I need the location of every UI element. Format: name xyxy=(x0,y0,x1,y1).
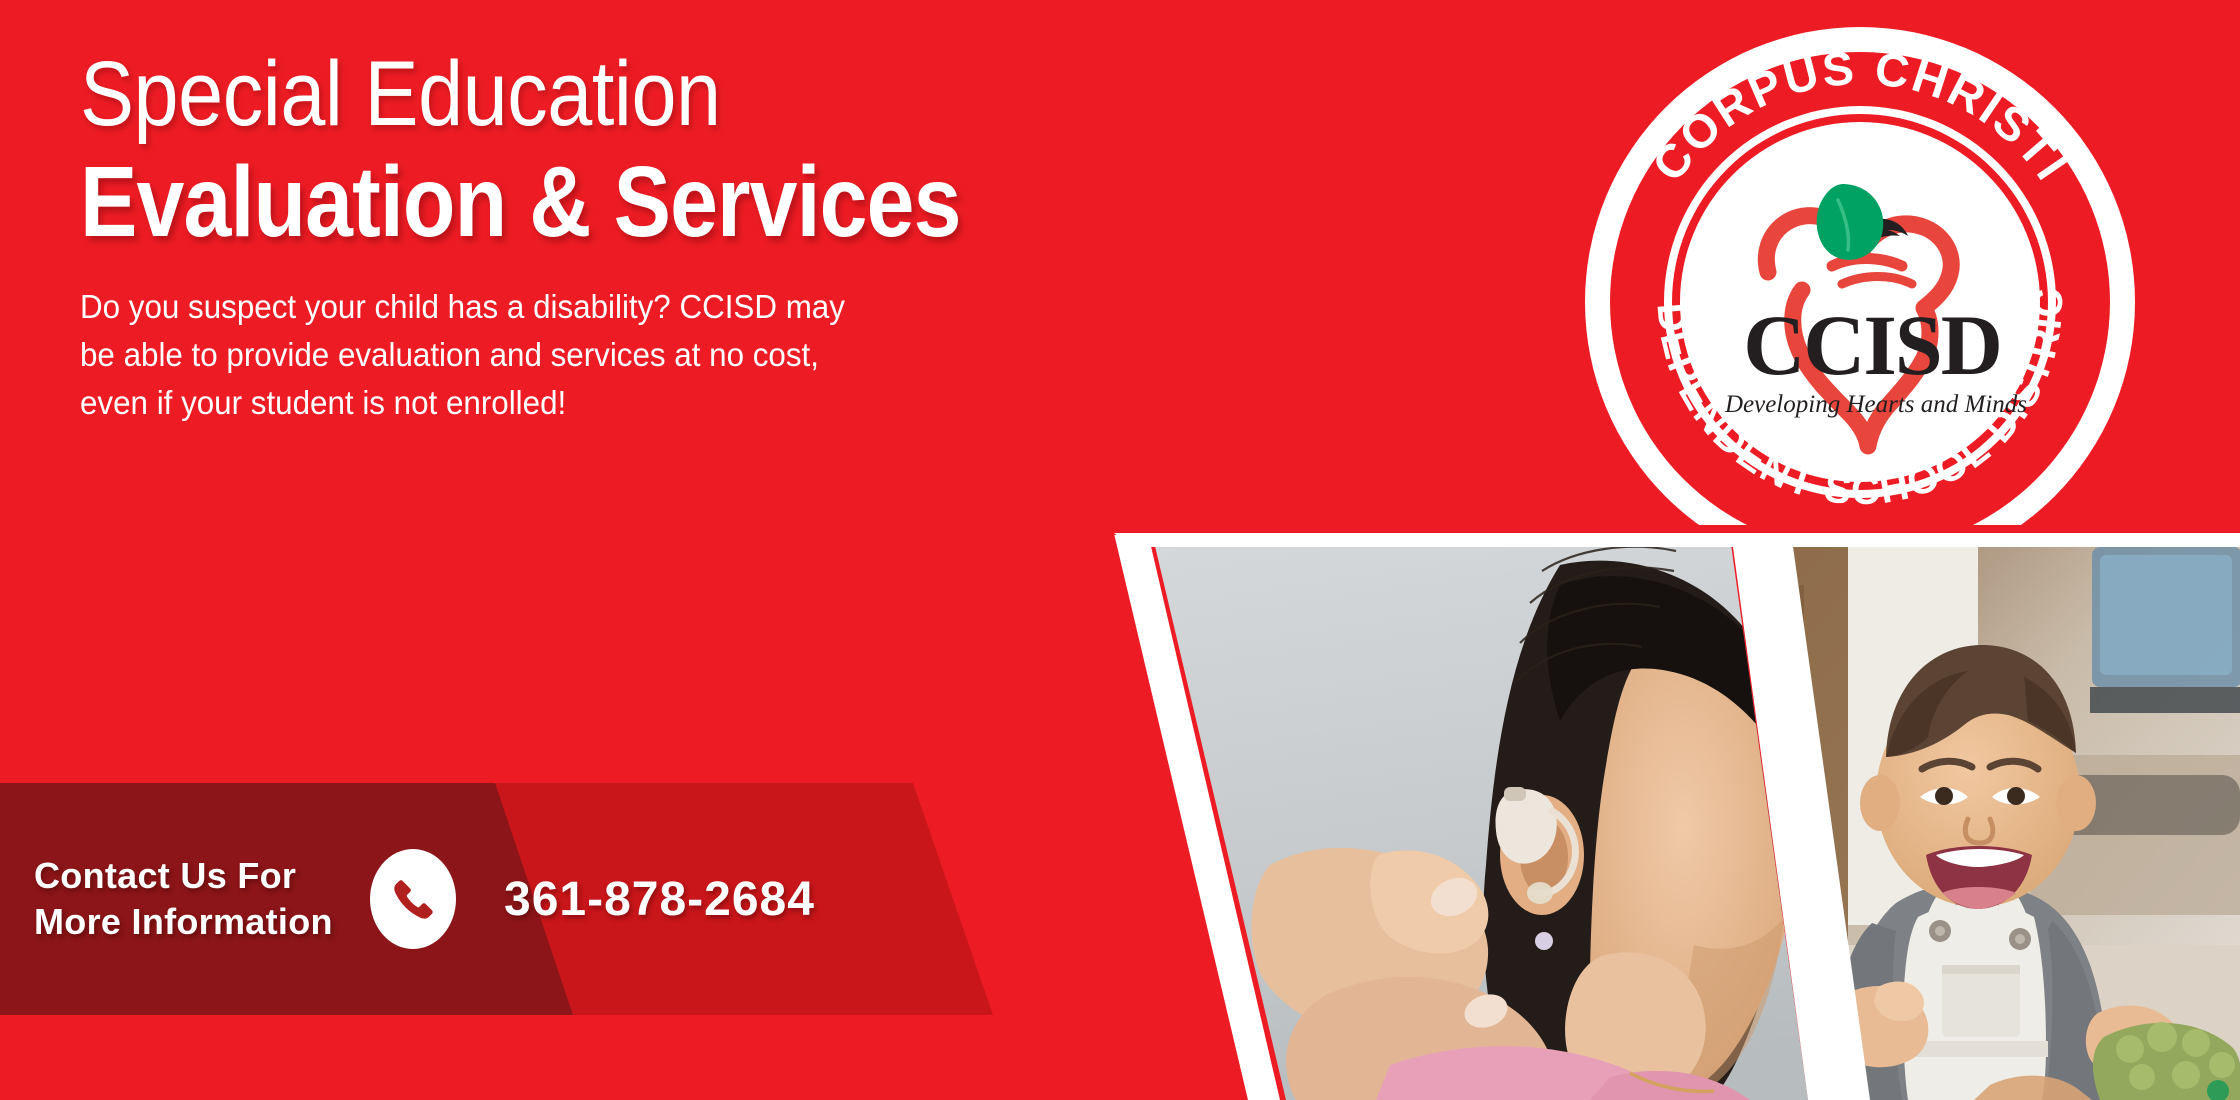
contact-label-line-1: Contact Us For xyxy=(34,853,334,899)
body-copy: Do you suspect your child has a disabili… xyxy=(80,283,916,428)
headline-block: Special Education Evaluation & Services xyxy=(80,48,1130,254)
photo-panel-graphic xyxy=(1090,525,2240,1100)
body-copy-line-2: be able to provide evaluation and servic… xyxy=(80,331,916,379)
left-photo-alt: Adult hands fitting a hearing aid on a y… xyxy=(0,0,1,1)
phone-icon-circle[interactable] xyxy=(370,849,456,949)
headline-bold-line: Evaluation & Services xyxy=(80,150,983,254)
photo-panel xyxy=(1090,525,2240,1100)
phone-number[interactable]: 361-878-2684 xyxy=(504,872,815,927)
contact-bar-content: Contact Us For More Information 361-878-… xyxy=(0,783,1010,1015)
special-education-banner: Special Education Evaluation & Services … xyxy=(0,0,2240,1100)
contact-label: Contact Us For More Information xyxy=(34,853,334,945)
body-copy-line-3: even if your student is not enrolled! xyxy=(80,379,916,427)
phone-handset-icon xyxy=(390,876,436,922)
headline-light-line: Special Education xyxy=(80,48,1004,140)
logo-tagline: Developing Hearts and Minds xyxy=(1724,391,2027,418)
ccisd-logo: CORPUS CHRISTI INDEPENDENT SCHOOL DISTRI… xyxy=(1580,22,2140,582)
contact-bar: Contact Us For More Information 361-878-… xyxy=(0,783,1010,1015)
logo-wordmark: CCISD xyxy=(1743,297,2001,393)
right-photo-alt: Smiling young boy in white overalls and … xyxy=(0,0,1,1)
ccisd-logo-graphic: CORPUS CHRISTI INDEPENDENT SCHOOL DISTRI… xyxy=(1580,22,2140,582)
contact-label-line-2: More Information xyxy=(34,899,334,945)
body-copy-line-1: Do you suspect your child has a disabili… xyxy=(80,283,916,331)
